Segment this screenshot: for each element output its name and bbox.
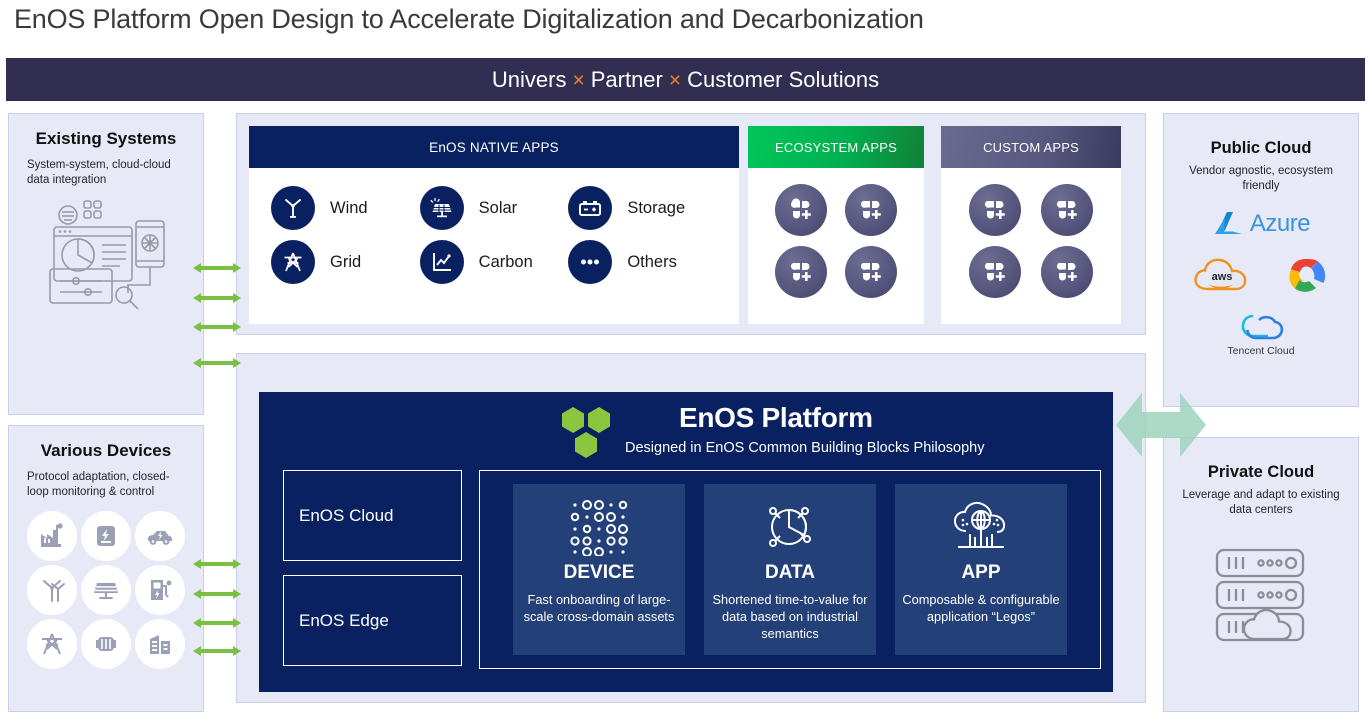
native-app-item[interactable]: Others: [568, 240, 717, 284]
platform-stack: EnOS Cloud EnOS Edge: [283, 470, 462, 669]
battery-storage-icon: [568, 186, 612, 230]
tencent-cloud-logo-icon: [1234, 309, 1288, 347]
banner-part-3: Customer Solutions: [687, 67, 879, 92]
app-plus-icon[interactable]: [845, 246, 897, 298]
device-tile: [81, 565, 131, 615]
apps-section: EnOS NATIVE APPS Wind: [236, 113, 1146, 335]
native-app-item[interactable]: Grid: [271, 240, 420, 284]
data-integration-illustration: [36, 193, 176, 313]
platform-title: EnOS Platform: [679, 402, 873, 434]
panel-various-devices: Various Devices Protocol adaptation, clo…: [8, 425, 204, 712]
native-app-item[interactable]: Wind: [271, 186, 420, 230]
power-grid-icon: [271, 240, 315, 284]
connector-arrow: [193, 261, 241, 275]
svg-text:aws: aws: [1212, 271, 1233, 283]
panel-private-cloud: Private Cloud Leverage and adapt to exis…: [1163, 437, 1359, 712]
panel-subtitle: Leverage and adapt to existing data cent…: [1177, 488, 1345, 517]
ecosystem-apps-grid: [748, 168, 924, 298]
native-app-item[interactable]: Carbon: [420, 240, 569, 284]
device-tile: [81, 511, 131, 561]
device-tile: [135, 511, 185, 561]
device-tile: [135, 619, 185, 669]
device-tile: [27, 619, 77, 669]
power-tower-icon: [38, 630, 66, 658]
native-app-label: Wind: [330, 199, 368, 218]
custom-apps-grid: [941, 168, 1121, 298]
platform-box: EnOS Platform Designed in EnOS Common Bu…: [259, 392, 1113, 692]
card-native-apps: EnOS NATIVE APPS Wind: [249, 126, 739, 324]
banner-part-1: Univers: [492, 67, 567, 92]
building-icon: [146, 630, 174, 658]
banner-separator-1: ×: [566, 69, 590, 92]
native-app-item[interactable]: Storage: [568, 186, 717, 230]
connector-arrow: [193, 291, 241, 305]
panel-subtitle: Protocol adaptation, closed-loop monitor…: [27, 470, 187, 499]
card-custom-apps: CUSTOM APPS: [941, 126, 1121, 324]
battery-icon: [92, 522, 120, 550]
factory-icon: [38, 522, 66, 550]
platform-body: EnOS Cloud EnOS Edge: [259, 470, 1113, 669]
connector-arrow: [193, 557, 241, 571]
banner-bar: Univers×Partner×Customer Solutions: [6, 58, 1365, 101]
pillar-desc: Composable & configurable application “L…: [901, 592, 1061, 626]
banner-part-2: Partner: [591, 67, 663, 92]
platform-cloud-connector-arrow: [1116, 390, 1206, 460]
pillar-app[interactable]: APP Composable & configurable applicatio…: [895, 484, 1067, 655]
panel-public-cloud: Public Cloud Vendor agnostic, ecosystem …: [1163, 113, 1359, 407]
tencent-label: Tencent Cloud: [1227, 345, 1294, 357]
platform-section: EnOS Platform Designed in EnOS Common Bu…: [236, 353, 1146, 703]
hexagon-logo: [559, 406, 617, 462]
app-plus-icon[interactable]: [775, 184, 827, 236]
pillar-title: DATA: [765, 562, 815, 584]
native-app-label: Others: [627, 253, 677, 272]
device-tile: [27, 511, 77, 561]
native-app-label: Carbon: [479, 253, 533, 272]
app-cloud-icon: [950, 496, 1012, 558]
card-ecosystem-apps: ECOSYSTEM APPS: [748, 126, 924, 324]
wind-turbine-icon: [271, 186, 315, 230]
native-apps-grid: Wind Solar: [249, 168, 739, 284]
platform-pillars: DEVICE Fast onboarding of large-scale cr…: [479, 470, 1101, 669]
wind-turbine-icon: [38, 576, 66, 604]
ellipsis-icon: [568, 240, 612, 284]
cloud-logo-row: aws: [1164, 253, 1358, 299]
panel-subtitle: System-system, cloud-cloud data integrat…: [27, 158, 187, 187]
google-cloud-logo-icon: [1278, 253, 1332, 299]
pillar-desc: Fast onboarding of large-scale cross-dom…: [519, 592, 679, 626]
panel-existing-systems: Existing Systems System-system, cloud-cl…: [8, 113, 204, 415]
connector-arrow: [193, 320, 241, 334]
native-app-label: Storage: [627, 199, 685, 218]
chart-trend-icon: [420, 240, 464, 284]
stack-item-enos-edge[interactable]: EnOS Edge: [283, 575, 462, 666]
pillar-title: APP: [961, 562, 1000, 584]
connector-arrow: [193, 587, 241, 601]
panel-title: Existing Systems: [9, 129, 203, 149]
device-tile: [81, 619, 131, 669]
native-app-label: Solar: [479, 199, 518, 218]
banner-separator-2: ×: [663, 69, 687, 92]
panel-subtitle: Vendor agnostic, ecosystem friendly: [1177, 164, 1345, 193]
pillar-desc: Shortened time-to-value for data based o…: [710, 592, 870, 643]
electric-car-icon: [145, 522, 175, 550]
azure-label: Azure: [1250, 210, 1310, 238]
device-icon-grid: [9, 511, 203, 669]
integration-illustration-wrap: [9, 193, 203, 313]
pillar-data[interactable]: DATA Shortened time-to-value for data ba…: [704, 484, 876, 655]
device-dots-icon: [566, 496, 632, 558]
aws-logo-icon: aws: [1190, 253, 1254, 299]
connector-arrow: [193, 644, 241, 658]
card-header: EnOS NATIVE APPS: [249, 126, 739, 168]
server-illustration-wrap: [1164, 545, 1358, 649]
pillar-title: DEVICE: [564, 562, 635, 584]
page-title: EnOS Platform Open Design to Accelerate …: [14, 4, 924, 35]
native-app-label: Grid: [330, 253, 361, 272]
diagram-canvas: EnOS Platform Open Design to Accelerate …: [0, 0, 1371, 720]
panel-title: Public Cloud: [1164, 139, 1358, 158]
connector-arrow: [193, 356, 241, 370]
device-tile: [27, 565, 77, 615]
tencent-logo-block: Tencent Cloud: [1164, 309, 1358, 357]
platform-header: EnOS Platform Designed in EnOS Common Bu…: [259, 392, 1113, 470]
panel-title: Various Devices: [9, 441, 203, 461]
banner-text: Univers×Partner×Customer Solutions: [492, 67, 879, 93]
azure-logo-icon: [1212, 209, 1248, 239]
pillar-device[interactable]: DEVICE Fast onboarding of large-scale cr…: [513, 484, 685, 655]
stack-item-enos-cloud[interactable]: EnOS Cloud: [283, 470, 462, 561]
native-app-item[interactable]: Solar: [420, 186, 569, 230]
transformer-icon: [92, 630, 120, 658]
solar-panel-icon: [420, 186, 464, 230]
ev-charger-icon: [146, 576, 174, 604]
app-plus-icon[interactable]: [969, 246, 1021, 298]
solar-panel-icon: [92, 576, 120, 604]
app-plus-icon[interactable]: [1041, 246, 1093, 298]
data-pie-icon: [761, 496, 819, 558]
app-plus-icon[interactable]: [969, 184, 1021, 236]
connector-arrow: [193, 616, 241, 630]
server-cloud-icon: [1207, 545, 1315, 649]
card-header: CUSTOM APPS: [941, 126, 1121, 168]
azure-logo-row: Azure: [1164, 209, 1358, 239]
device-tile: [135, 565, 185, 615]
panel-title: Private Cloud: [1164, 463, 1358, 482]
app-plus-icon[interactable]: [845, 184, 897, 236]
app-plus-icon[interactable]: [775, 246, 827, 298]
platform-subtitle: Designed in EnOS Common Building Blocks …: [625, 440, 984, 456]
card-header: ECOSYSTEM APPS: [748, 126, 924, 168]
app-plus-icon[interactable]: [1041, 184, 1093, 236]
